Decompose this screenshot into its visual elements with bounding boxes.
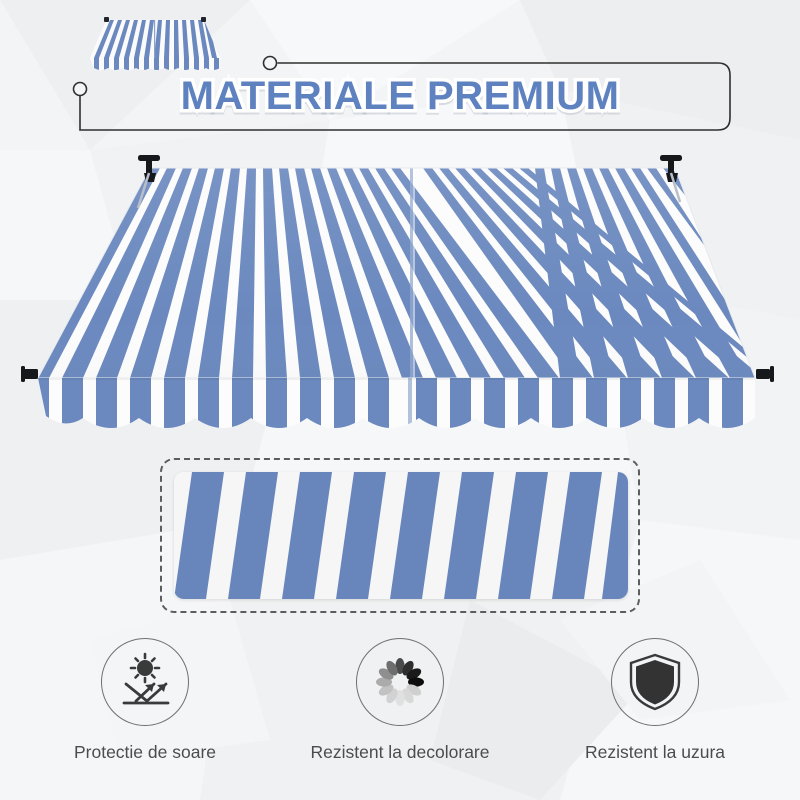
sun-protection-icon	[114, 651, 176, 713]
feature-wear-resistant: Rezistent la uzura	[528, 638, 783, 763]
frame-node-top	[264, 57, 277, 70]
shield-icon	[627, 652, 683, 712]
awning-product-image	[20, 150, 780, 450]
icon-ring	[101, 638, 189, 726]
fabric-swatch-frame	[160, 458, 640, 613]
feature-sun-protection: Protectie de soare	[18, 638, 273, 763]
feature-label: Protectie de soare	[74, 742, 216, 763]
feature-row: Protectie de soare	[0, 638, 800, 783]
icon-ring	[356, 638, 444, 726]
color-fade-wheel-icon	[371, 653, 429, 711]
fabric-swatch	[174, 472, 628, 599]
mounting-bracket-bottom-right	[756, 366, 774, 382]
mounting-bracket-bottom-left	[21, 366, 38, 382]
icon-ring	[611, 638, 699, 726]
page-title: MATERIALE PREMIUM	[0, 74, 800, 119]
feature-label: Rezistent la uzura	[585, 742, 725, 763]
feature-fade-resistant: Rezistent la decolorare	[273, 638, 528, 763]
poster-canvas: MATERIALE PREMIUM MATERIALE PREMIUM	[0, 0, 800, 800]
feature-label: Rezistent la decolorare	[311, 742, 490, 763]
